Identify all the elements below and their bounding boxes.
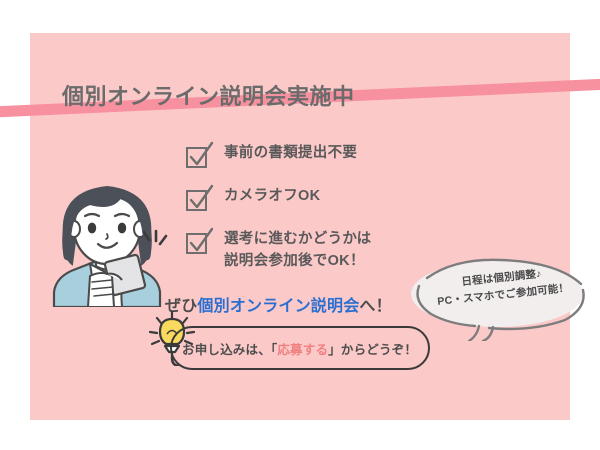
callout-suffix: からどうぞ！ xyxy=(341,343,417,357)
cta-suffix: へ！ xyxy=(359,298,391,315)
feature-checklist: 事前の書類提出不要 カメラオフOK 選考に進むかどうかは 説明会参加後でOK！ xyxy=(186,143,446,273)
checkbox-check-icon xyxy=(186,187,212,213)
page-title: 個別オンライン説明会実施中 xyxy=(62,79,355,111)
cta-headline: ぜひ個別オンライン説明会へ！ xyxy=(165,292,392,316)
cta-highlight: 個別オンライン説明会 xyxy=(197,298,359,315)
list-item-label: カメラオフOK xyxy=(224,186,320,208)
poster-canvas: 個別オンライン説明会実施中 xyxy=(0,0,600,450)
callout-prefix: お申し込みは、 xyxy=(182,343,271,357)
list-item-label-multiline: 選考に進むかどうかは 説明会参加後でOK！ xyxy=(224,229,371,273)
excitement-lines-icon xyxy=(140,228,170,262)
list-item: 事前の書類提出不要 xyxy=(186,143,446,170)
application-callout-text: お申し込みは、「応募する」からどうぞ！ xyxy=(182,339,422,358)
list-item-label-line1: 選考に進むかどうかは xyxy=(224,231,371,247)
list-item: カメラオフOK xyxy=(186,186,446,213)
list-item-label-line2: 説明会参加後でOK！ xyxy=(224,253,365,269)
checkbox-check-icon xyxy=(186,144,212,170)
list-item-label: 事前の書類提出不要 xyxy=(224,143,357,165)
apply-button-label[interactable]: 応募する xyxy=(277,343,328,357)
callout-close-quote: 」 xyxy=(328,343,341,357)
checkbox-check-icon xyxy=(186,230,212,256)
